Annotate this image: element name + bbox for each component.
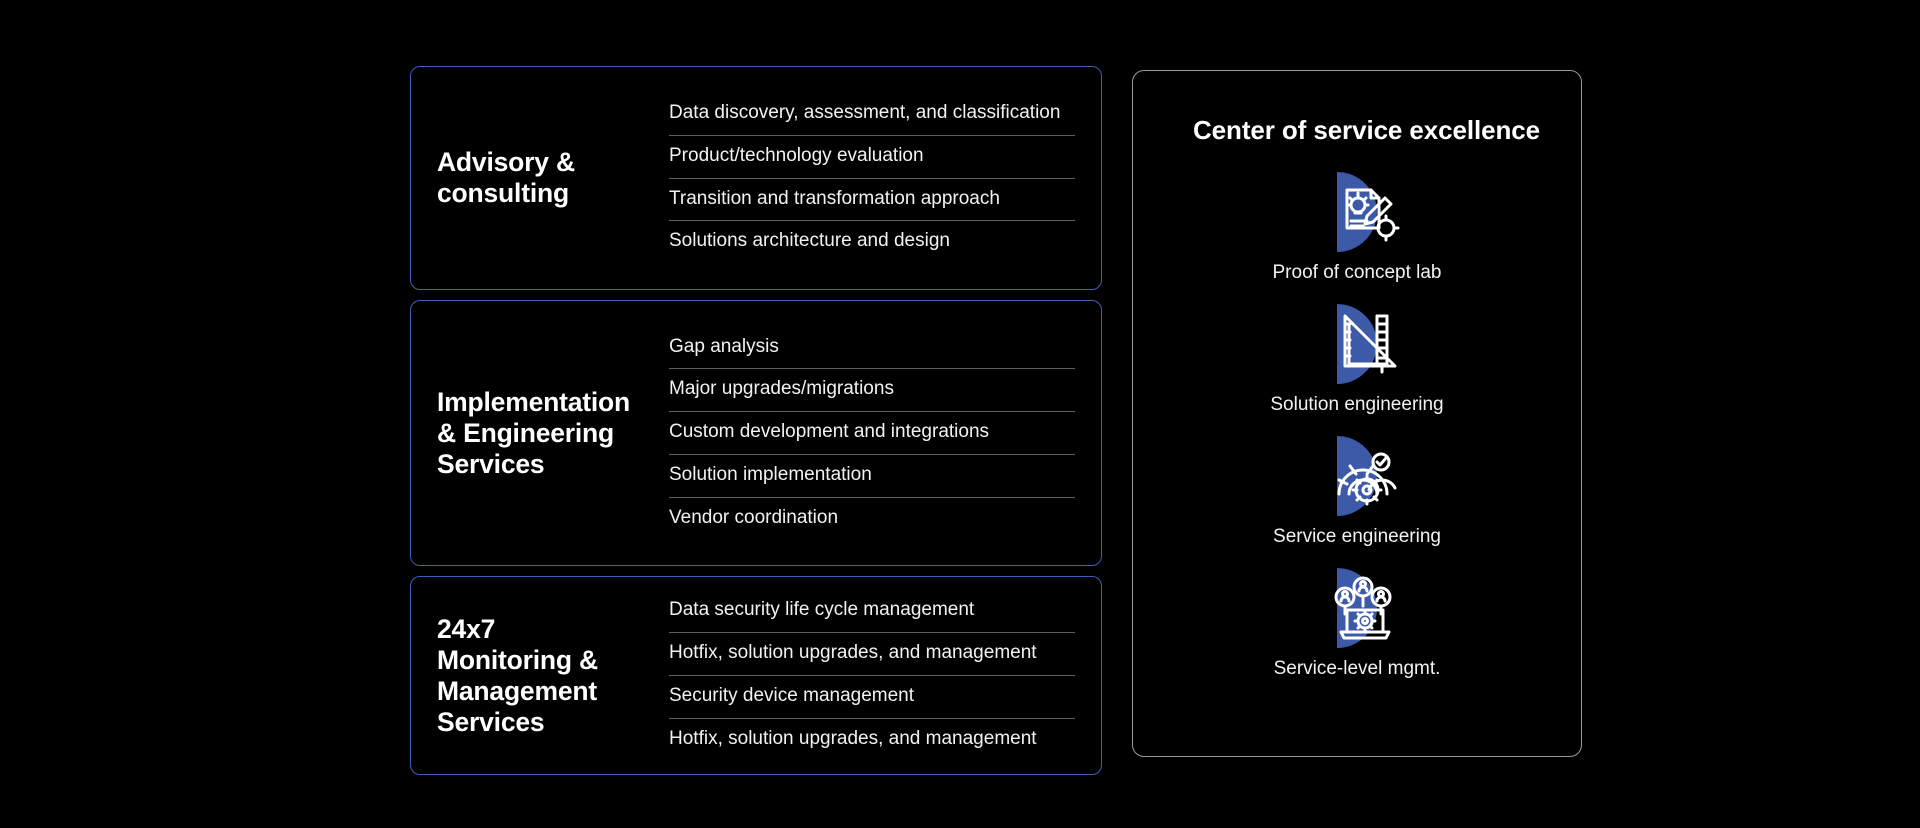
excellence-item-proof-of-concept-lab[interactable]: Proof of concept lab [1157, 164, 1557, 284]
service-item: Data discovery, assessment, and classifi… [669, 93, 1075, 136]
excellence-item-label: Proof of concept lab [1273, 262, 1442, 284]
service-cards-column: Advisory & consulting Data discovery, as… [410, 66, 1102, 785]
excellence-item-solution-engineering[interactable]: Solution engineering [1157, 296, 1557, 416]
service-card-advisory-consulting[interactable]: Advisory & consulting Data discovery, as… [410, 66, 1102, 290]
service-card-item-list: Gap analysis Major upgrades/migrations C… [669, 327, 1075, 540]
service-item: Transition and transformation approach [669, 179, 1075, 222]
service-item: Product/technology evaluation [669, 136, 1075, 179]
excellence-item-label: Service engineering [1273, 526, 1441, 548]
service-item: Major upgrades/migrations [669, 369, 1075, 412]
document-lightbulb-pencil-gear-icon [1309, 164, 1405, 260]
excellence-item-label: Service-level mgmt. [1274, 658, 1441, 680]
excellence-item-service-level-mgmt[interactable]: Service-level mgmt. [1157, 560, 1557, 680]
service-item: Solutions architecture and design [669, 221, 1075, 263]
service-item: Custom development and integrations [669, 412, 1075, 455]
service-item: Hotfix, solution upgrades, and managemen… [669, 633, 1075, 676]
service-card-title: Advisory & consulting [437, 147, 669, 209]
service-item: Security device management [669, 676, 1075, 719]
excellence-item-service-engineering[interactable]: Service engineering [1157, 428, 1557, 548]
service-item: Gap analysis [669, 327, 1075, 370]
excellence-item-list: Proof of concept lab [1157, 164, 1557, 692]
service-card-item-list: Data security life cycle management Hotf… [669, 590, 1075, 760]
service-item: Hotfix, solution upgrades, and managemen… [669, 719, 1075, 761]
service-item: Data security life cycle management [669, 590, 1075, 633]
service-item: Vendor coordination [669, 498, 1075, 540]
gauge-gear-person-check-icon [1309, 428, 1405, 524]
excellence-item-label: Solution engineering [1270, 394, 1443, 416]
service-card-24x7-monitoring-management-services[interactable]: 24x7 Monitoring & Management Services Da… [410, 576, 1102, 775]
panel-title: Center of service excellence [1193, 115, 1557, 146]
service-card-implementation-engineering-services[interactable]: Implementation & Engineering Services Ga… [410, 300, 1102, 566]
service-card-item-list: Data discovery, assessment, and classifi… [669, 93, 1075, 263]
center-of-service-excellence-panel: Center of service excellence [1132, 70, 1582, 757]
infographic-canvas: Advisory & consulting Data discovery, as… [0, 0, 1920, 828]
set-square-ruler-pencil-icon [1309, 296, 1405, 392]
service-card-title: 24x7 Monitoring & Management Services [437, 614, 669, 738]
service-card-title: Implementation & Engineering Services [437, 387, 669, 480]
laptop-gear-team-network-icon [1309, 560, 1405, 656]
service-item: Solution implementation [669, 455, 1075, 498]
